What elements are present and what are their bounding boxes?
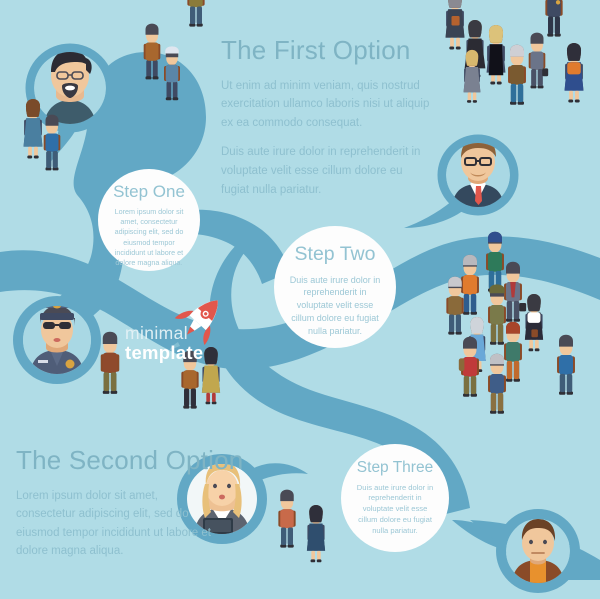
step-one-circle[interactable]: Step One Lorem ipsum dolor sit amet, con… [98, 169, 200, 271]
first-option-title: The First Option [221, 36, 431, 65]
person-figure [278, 490, 295, 548]
person-figure [307, 505, 325, 562]
person-figure [164, 46, 180, 100]
step-three-body: Duis aute irure dolor in reprehenderit i… [354, 483, 436, 537]
step-three-title: Step Three [357, 460, 433, 476]
person-figure [101, 332, 120, 394]
infographic-canvas: Step One Lorem ipsum dolor sit amet, con… [0, 0, 600, 599]
person-figure [144, 24, 161, 80]
brand-line-2: template [125, 344, 203, 363]
brand-lockup: minimal template [125, 325, 203, 362]
person-figure [557, 335, 575, 395]
person-figure [187, 0, 204, 27]
step-two-title: Step Two [295, 245, 376, 265]
person-figure [488, 284, 506, 344]
person-figure [464, 50, 481, 103]
person-figure [565, 43, 584, 102]
person-figure [459, 337, 479, 397]
step-one-title: Step One [113, 183, 185, 200]
second-option-block: The Second Option Lorem ipsum dolor sit … [16, 446, 216, 572]
step-three-circle[interactable]: Step Three Duis aute irure dolor in repr… [341, 444, 449, 552]
person-figure [545, 0, 562, 37]
person-figure [504, 322, 522, 382]
person-figure [461, 255, 479, 315]
person-figure [529, 33, 549, 89]
person-figure [525, 294, 543, 351]
person-figure [446, 0, 465, 49]
person-figure [202, 347, 220, 404]
second-option-title: The Second Option [16, 446, 216, 475]
person-figure [504, 262, 526, 322]
first-option-block: The First Option Ut enim ad minim veniam… [221, 36, 431, 210]
step-one-body: Lorem ipsum dolor sit amet, consectetur … [111, 207, 187, 268]
brand-line-1: minimal [125, 325, 203, 343]
person-figure [24, 99, 43, 158]
first-option-paragraph-2: Duis aute irure dolor in reprehenderit i… [221, 143, 431, 199]
person-figure [486, 232, 504, 292]
step-two-body: Duis aute irure dolor in reprehenderit i… [289, 274, 381, 338]
step-two-circle[interactable]: Step Two Duis aute irure dolor in repreh… [274, 226, 396, 348]
person-figure [508, 45, 526, 105]
person-figure [488, 354, 506, 414]
person-figure [44, 115, 61, 171]
person-figure [446, 277, 463, 335]
first-option-paragraph-1: Ut enim ad minim veniam, quis nostrud ex… [221, 77, 431, 133]
second-option-paragraph-1: Lorem ipsum dolor sit amet, consectetur … [16, 487, 216, 562]
person-figure [487, 25, 506, 84]
